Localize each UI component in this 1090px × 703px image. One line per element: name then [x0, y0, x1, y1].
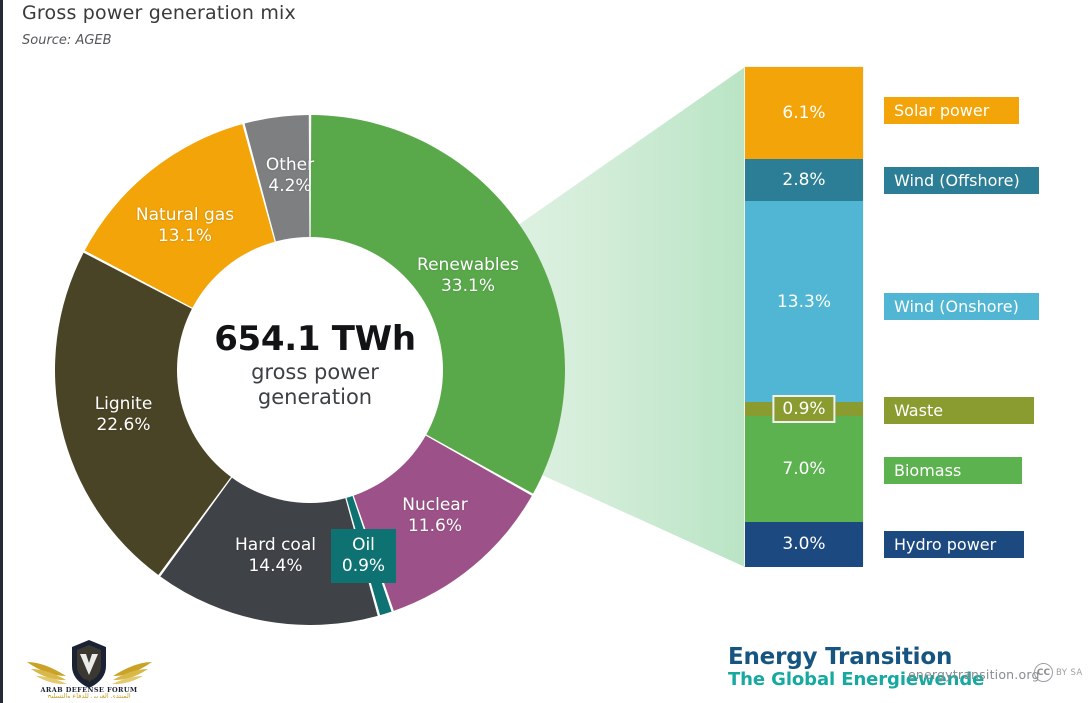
bar-segment-value: 7.0% [782, 459, 825, 479]
bar-segment-wind-offshore-[interactable]: 2.8% [745, 159, 863, 201]
bar-segment-value: 6.1% [782, 103, 825, 123]
chart-canvas: Gross power generation mix Source: AGEB … [0, 0, 1090, 703]
renewables-stacked-bar: 6.1%2.8%13.3%0.9%7.0%3.0% [744, 66, 864, 566]
donut-center-text: 654.1 TWh gross powergeneration [145, 320, 485, 410]
arab-defense-forum-logo: DA ARAB DEFENSE FORUM المنتدى العربي للد… [22, 636, 157, 698]
slice-label-other: Other4.2% [244, 155, 336, 197]
left-edge-strip [0, 0, 3, 703]
slice-label-hard-coal: Hard coal14.4% [213, 535, 338, 577]
bar-segment-value: 3.0% [782, 534, 825, 554]
legend-item-biomass[interactable]: Biomass [884, 457, 1022, 484]
cc-license-text: BY SA [1056, 668, 1083, 678]
site-url: energytransition.org [908, 667, 1040, 682]
bar-segment-hydro-power[interactable]: 3.0% [745, 522, 863, 567]
legend-item-solar-power[interactable]: Solar power [884, 97, 1019, 124]
donut-center-subtitle: gross powergeneration [145, 360, 485, 410]
legend-item-waste[interactable]: Waste [884, 397, 1034, 424]
bar-segment-solar-power[interactable]: 6.1% [745, 67, 863, 159]
bar-segment-biomass[interactable]: 7.0% [745, 416, 863, 522]
legend-item-hydro-power[interactable]: Hydro power [884, 531, 1024, 558]
legend-item-label: Solar power [894, 101, 989, 120]
logo-name-ar: المنتدى العربي للدفاع والتسليح [47, 692, 131, 698]
bar-segment-waste[interactable]: 0.9% [745, 402, 863, 416]
creative-commons-badge: CC BY SA [1034, 663, 1083, 682]
page-title: Gross power generation mix [22, 2, 296, 24]
donut-center-value: 654.1 TWh [145, 320, 485, 358]
legend-item-label: Hydro power [894, 535, 996, 554]
legend-item-label: Wind (Offshore) [894, 171, 1020, 190]
cc-icon: CC [1034, 663, 1053, 682]
legend-item-wind-offshore-[interactable]: Wind (Offshore) [884, 167, 1039, 194]
slice-label-natural-gas: Natural gas13.1% [120, 205, 250, 247]
slice-label-renewables: Renewables33.1% [398, 255, 538, 297]
legend-item-label: Biomass [894, 461, 961, 480]
slice-callout-oil: Oil 0.9% [331, 529, 396, 583]
oil-callout-label: Oil [352, 535, 375, 556]
bar-segment-value: 0.9% [772, 395, 835, 423]
oil-callout-value: 0.9% [342, 556, 385, 577]
bar-segment-wind-onshore-[interactable]: 13.3% [745, 201, 863, 402]
legend-item-label: Wind (Onshore) [894, 297, 1019, 316]
source-note: Source: AGEB [22, 33, 112, 48]
bar-segment-value: 13.3% [777, 292, 831, 312]
legend-item-wind-onshore-[interactable]: Wind (Onshore) [884, 293, 1039, 320]
slice-label-nuclear: Nuclear11.6% [380, 495, 490, 537]
bar-segment-value: 2.8% [782, 170, 825, 190]
legend-item-label: Waste [894, 401, 943, 420]
